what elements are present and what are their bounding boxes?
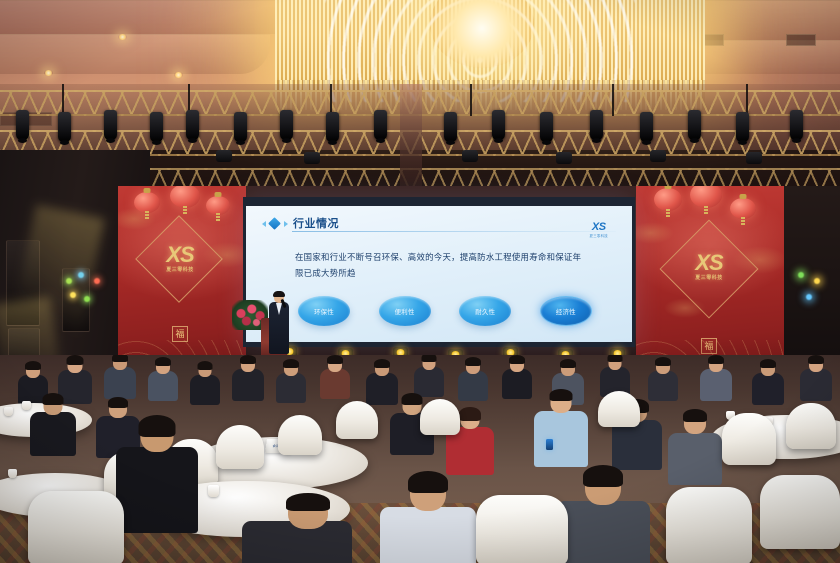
par-can-light — [304, 152, 320, 164]
par-can-light — [746, 152, 762, 164]
recessed-downlight — [44, 70, 53, 76]
attendee-hair — [108, 397, 128, 408]
moving-head-light — [444, 112, 457, 142]
attendee-torso — [414, 367, 444, 397]
stage-led-yellow — [814, 278, 820, 284]
audience-member — [190, 363, 220, 403]
banner-logo-mark: XS — [156, 244, 204, 266]
stage-led-cyan — [78, 272, 84, 278]
attendee-torso — [700, 369, 732, 401]
audience-member — [502, 357, 532, 397]
attendee-hair — [283, 359, 299, 368]
attendee-hair — [808, 355, 824, 364]
banquet-chair — [278, 415, 322, 455]
audience-member — [648, 359, 678, 399]
banner-logo-subtitle: 夏三零科技 — [156, 268, 204, 273]
coffee-cup — [8, 469, 17, 478]
ceiling-panel — [0, 34, 270, 74]
auspicious-cloud-motif — [118, 208, 156, 230]
moving-head-light — [58, 112, 71, 142]
moving-head-light — [790, 110, 803, 140]
moving-head-light — [234, 112, 247, 142]
red-lantern — [170, 186, 200, 208]
red-lantern — [690, 186, 722, 208]
banner-brand-logo: XS 夏三零科技 — [156, 244, 204, 273]
stage-led-cyan — [806, 294, 812, 300]
par-can-light — [650, 150, 666, 162]
banquet-chair-foreground — [666, 487, 752, 563]
slide-logo-subtitle: 夏三零科技 — [590, 233, 608, 238]
par-can-light — [556, 152, 572, 164]
rigging-cable — [612, 84, 614, 116]
attendee-hair — [286, 493, 330, 511]
audience-member — [668, 411, 722, 481]
audience-member-foreground — [556, 467, 650, 563]
attendee-torso — [190, 375, 220, 405]
slide-brand-logo: XS 夏三零科技 — [590, 221, 608, 238]
audience-member — [752, 361, 784, 403]
moving-head-light — [492, 110, 505, 140]
attendee-hair — [112, 355, 128, 362]
water-glass — [4, 407, 13, 416]
audience-member-phone-user — [534, 391, 588, 463]
audience-member-foreground — [116, 417, 198, 527]
attendee-torso — [800, 369, 832, 401]
red-lantern — [654, 188, 682, 211]
slide-title: 行业情况 — [293, 215, 339, 231]
conference-hall-photo: XS 夏三零科技 福 XS 夏三零科技 福 — [0, 0, 840, 563]
moving-head-light — [186, 110, 199, 140]
recessed-downlight — [174, 72, 183, 78]
moving-head-light — [374, 110, 387, 140]
auspicious-cloud-motif — [636, 222, 674, 244]
moving-head-light — [736, 112, 749, 142]
moving-head-light — [150, 112, 163, 142]
attendee-torso — [380, 507, 476, 563]
slide-body-text: 在国家和行业不断号召环保、高效的今天，提高防水工程使用寿命和保证年限已成大势所趋 — [295, 250, 585, 281]
red-lantern — [730, 198, 756, 219]
attendee-hair — [683, 409, 707, 422]
ceiling-vent — [786, 34, 816, 46]
attendee-hair — [402, 393, 423, 405]
stage-led-red — [94, 278, 100, 284]
moving-head-light — [540, 112, 553, 142]
attendee-hair — [459, 407, 481, 421]
new-year-banner-left: XS 夏三零科技 福 — [118, 186, 246, 382]
audience-seating-area: 会议席位 — [0, 355, 840, 563]
audience-member — [148, 359, 178, 399]
banquet-chair — [420, 399, 460, 435]
audience-member — [232, 357, 264, 399]
smartphone — [546, 439, 553, 450]
attendee-hair — [509, 355, 525, 364]
attendee-hair — [760, 359, 776, 368]
attendee-torso — [534, 411, 588, 467]
attendee-hair — [550, 389, 573, 401]
attendee-torso — [502, 369, 532, 399]
banquet-chair-foreground — [760, 475, 840, 549]
audience-member — [800, 357, 832, 399]
banquet-chair-foreground — [476, 495, 568, 563]
stage-led-green — [798, 272, 804, 278]
attendee-torso — [612, 420, 662, 470]
presenter-hair — [273, 291, 285, 297]
attendee-hair — [25, 361, 41, 370]
attendee-torso — [30, 412, 76, 456]
banquet-chair — [336, 401, 378, 439]
banquet-chair — [786, 403, 836, 449]
slide-title-underline — [292, 231, 616, 232]
attendee-hair — [240, 355, 256, 364]
banner-logo-subtitle: 夏三零科技 — [684, 276, 734, 281]
attendee-hair — [422, 355, 437, 362]
attendee-hair — [139, 415, 176, 437]
audience-member — [104, 355, 136, 397]
attendee-hair — [374, 359, 390, 368]
audience-member-foreground — [242, 495, 352, 563]
moving-head-light — [590, 110, 603, 140]
attendee-torso — [232, 369, 264, 401]
attendee-torso — [148, 371, 178, 401]
banquet-chair-foreground — [28, 491, 124, 563]
attendee-hair — [608, 355, 623, 362]
audience-member — [320, 357, 350, 397]
attendee-hair — [465, 357, 481, 366]
moving-head-light — [640, 112, 653, 142]
moving-head-light — [326, 112, 339, 142]
attendee-torso — [556, 501, 650, 563]
slide-pill-3[interactable]: 耐久性 — [459, 296, 511, 326]
par-can-light — [462, 150, 478, 162]
new-year-banner-right: XS 夏三零科技 福 — [636, 186, 784, 382]
coffee-cup — [208, 485, 219, 497]
diamond-icon — [268, 217, 281, 230]
arrow-left-icon — [262, 221, 266, 227]
attendee-hair — [327, 355, 343, 364]
attendee-torso — [458, 371, 488, 401]
banner-brand-logo: XS 夏三零科技 — [684, 252, 734, 281]
moving-head-light — [104, 110, 117, 140]
presenter — [268, 292, 290, 354]
audience-member-foreground — [380, 473, 476, 563]
stage-led-yellow — [70, 292, 76, 298]
stage-led-green — [84, 296, 90, 302]
attendee-hair — [67, 355, 84, 365]
red-lantern — [206, 196, 230, 215]
recessed-downlight — [118, 34, 127, 40]
attendee-hair — [560, 359, 576, 368]
arrow-right-icon — [284, 221, 288, 227]
slide-logo-mark: XS — [590, 221, 608, 233]
slide-pill-row: 环保性 便利性 耐久性 经济性 — [298, 294, 592, 328]
par-can-light — [216, 150, 232, 162]
attendee-torso — [648, 371, 678, 401]
moving-head-light — [688, 110, 701, 140]
slide-pill-2[interactable]: 便利性 — [379, 296, 431, 326]
moving-head-light — [16, 110, 29, 140]
attendee-torso — [116, 447, 198, 533]
attendee-hair — [708, 355, 724, 364]
line-array-speaker — [6, 240, 40, 326]
banquet-chair — [216, 425, 264, 469]
stage-led-green — [66, 278, 72, 284]
banquet-chair — [598, 391, 640, 427]
attendee-torso — [104, 367, 136, 399]
attendee-hair — [43, 393, 64, 405]
slide-pill-1[interactable]: 环保性 — [298, 296, 350, 326]
attendee-hair — [155, 357, 171, 366]
attendee-hair — [408, 471, 448, 493]
attendee-hair — [198, 361, 213, 370]
audience-member — [414, 355, 444, 395]
diamond-arrow-icon — [262, 218, 288, 229]
attendee-torso — [320, 369, 350, 399]
attendee-torso — [752, 373, 784, 405]
attendee-hair — [583, 465, 623, 487]
attendee-torso — [668, 433, 722, 485]
rigging-cable — [470, 84, 472, 116]
ceiling-panel — [0, 0, 300, 34]
audience-member — [458, 359, 488, 399]
audience-member — [276, 361, 306, 401]
slide-header: 行业情况 XS 夏三零科技 — [262, 215, 618, 235]
moving-head-light — [280, 110, 293, 140]
attendee-torso — [276, 373, 306, 403]
projected-slide[interactable]: 行业情况 XS 夏三零科技 在国家和行业不断号召环保、高效的今天，提高防水工程使… — [246, 206, 632, 342]
audience-member — [700, 357, 732, 399]
audience-member — [600, 355, 630, 395]
audience-member — [30, 395, 76, 453]
banner-logo-mark: XS — [684, 252, 734, 274]
attendee-hair — [655, 357, 671, 366]
rig-gap — [400, 84, 422, 194]
banquet-chair — [722, 413, 776, 465]
slide-pill-4[interactable]: 经济性 — [540, 296, 592, 326]
